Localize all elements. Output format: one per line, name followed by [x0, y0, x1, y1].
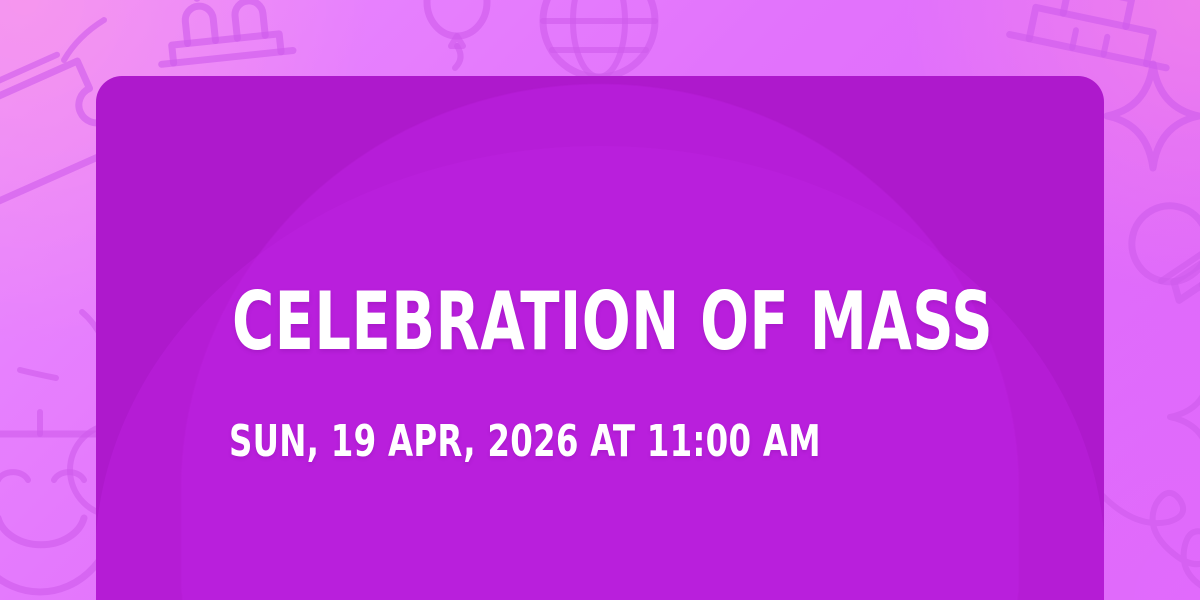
event-banner: Celebration of Mass Sun, 19 Apr, 2026 at…: [0, 0, 1200, 600]
globe-icon: [534, 0, 664, 86]
event-card: Celebration of Mass Sun, 19 Apr, 2026 at…: [96, 76, 1104, 600]
event-title: Celebration of Mass: [232, 280, 993, 364]
sparkle-icon: [1098, 56, 1200, 176]
balloon-icon: [412, 0, 502, 80]
confetti-streamer-icon: [1088, 460, 1200, 600]
event-datetime: Sun, 19 Apr, 2026 at 11:00 AM: [229, 418, 821, 466]
microphone-icon: [1128, 182, 1200, 342]
sparkle-small-icon: [1164, 372, 1200, 462]
podium-icon: [1006, 0, 1186, 78]
stage-lights-icon: [140, 0, 300, 86]
confetti-dash-secondary-icon: [54, 4, 144, 74]
